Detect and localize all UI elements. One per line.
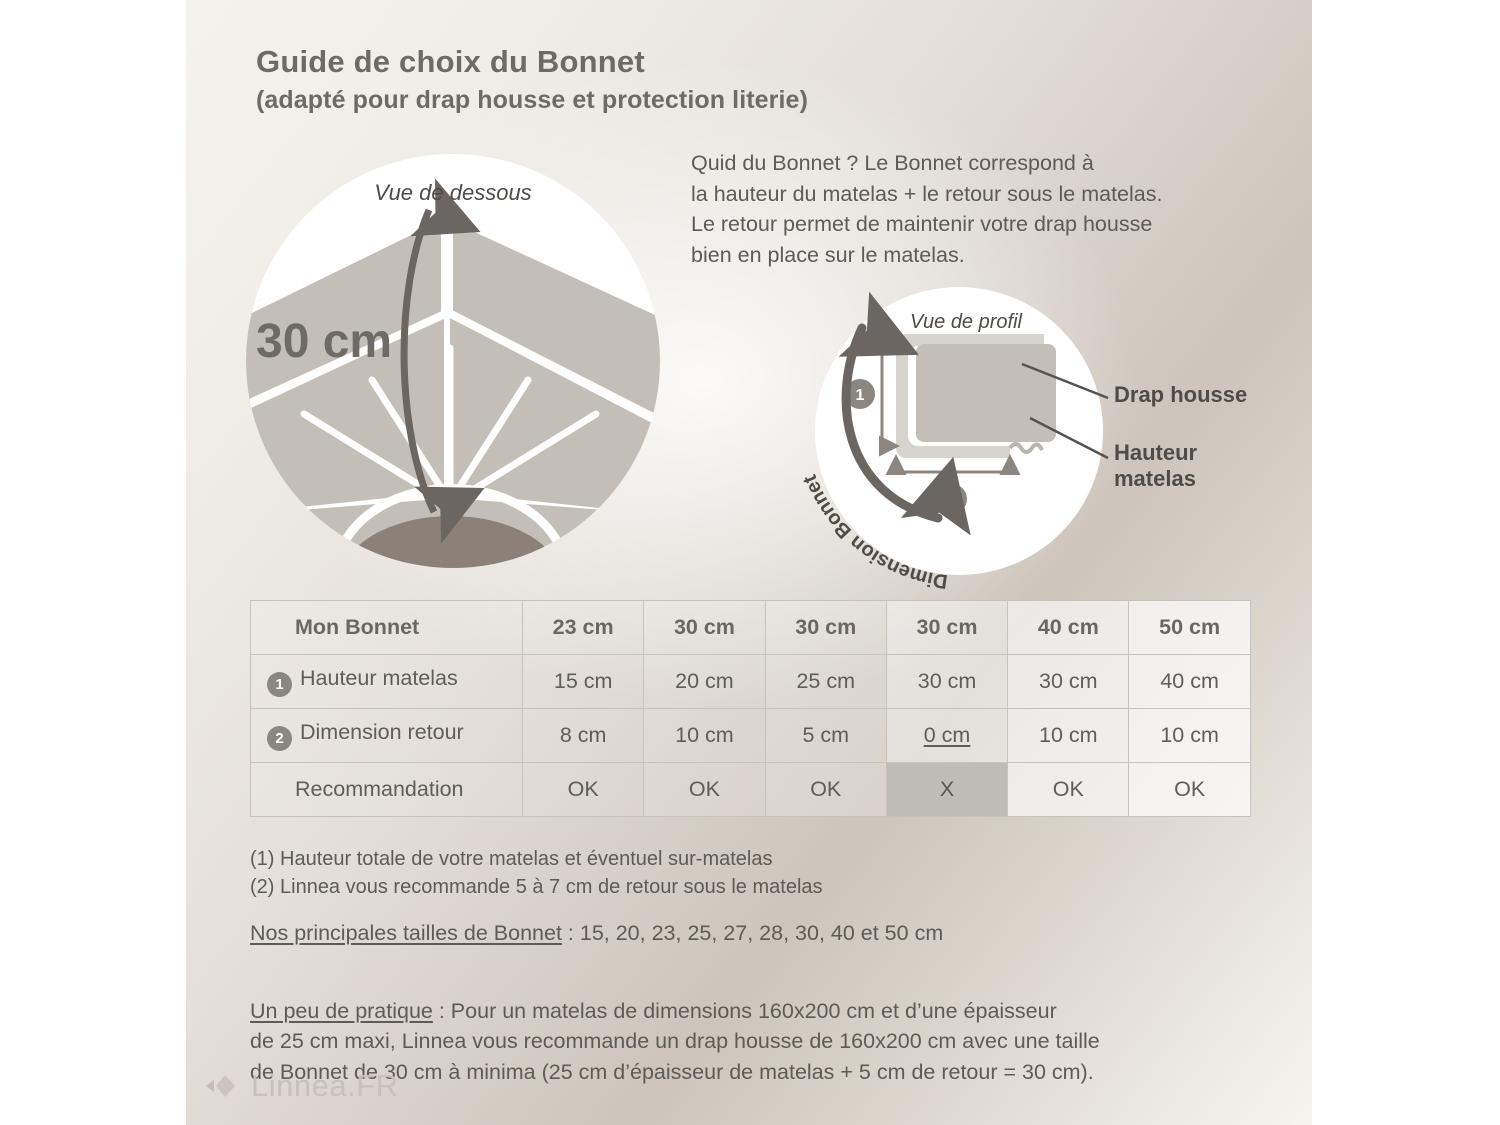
table-row-label-text: Recommandation bbox=[251, 763, 523, 817]
footnotes: (1) Hauteur totale de votre matelas et é… bbox=[250, 845, 1270, 902]
table-cell: 10 cm bbox=[1008, 709, 1129, 763]
table-cell: OK bbox=[765, 763, 886, 817]
table-row: 2Dimension retour 8 cm 10 cm 5 cm 0 cm 1… bbox=[251, 709, 1251, 763]
table-cell: OK bbox=[644, 763, 765, 817]
table-header-cell: 30 cm bbox=[886, 601, 1007, 655]
table-header-cell: 40 cm bbox=[1008, 601, 1129, 655]
bottom-view-caption: Vue de dessous bbox=[374, 180, 531, 205]
available-sizes-rest: : 15, 20, 23, 25, 27, 28, 30, 40 et 50 c… bbox=[562, 921, 943, 945]
table-row-label: 2Dimension retour bbox=[251, 709, 523, 763]
available-sizes-line: Nos principales tailles de Bonnet : 15, … bbox=[250, 918, 1270, 948]
table-cell: 10 cm bbox=[644, 709, 765, 763]
linnea-diamond-icon bbox=[202, 1071, 242, 1101]
table-cell: 8 cm bbox=[523, 709, 644, 763]
table-cell: 30 cm bbox=[1008, 655, 1129, 709]
leader-line-mattress bbox=[1030, 418, 1108, 458]
callout-drap-housse: Drap housse bbox=[1114, 382, 1247, 408]
infographic-page: Guide de choix du Bonnet (adapté pour dr… bbox=[0, 0, 1500, 1125]
infographic-panel: Guide de choix du Bonnet (adapté pour dr… bbox=[186, 0, 1312, 1125]
brand-wordmark: Linnea.FR bbox=[251, 1068, 399, 1104]
marker-badge-2: 2 bbox=[267, 726, 292, 751]
footnote-2: (2) Linnea vous recommande 5 à 7 cm de r… bbox=[250, 873, 1270, 901]
table-cell: OK bbox=[523, 763, 644, 817]
table-row: Recommandation OK OK OK X OK OK bbox=[251, 763, 1251, 817]
table-cell: 25 cm bbox=[765, 655, 886, 709]
practical-example: Un peu de pratique : Pour un matelas de … bbox=[250, 965, 1260, 1087]
table-cell: 20 cm bbox=[644, 655, 765, 709]
table-cell: 15 cm bbox=[523, 655, 644, 709]
table-cell: 40 cm bbox=[1129, 655, 1250, 709]
table-header-cell: 30 cm bbox=[644, 601, 765, 655]
table-cell: 30 cm bbox=[886, 655, 1007, 709]
footnote-1: (1) Hauteur totale de votre matelas et é… bbox=[250, 845, 1270, 873]
table-header-label: Mon Bonnet bbox=[251, 601, 523, 655]
brand-logo: Linnea.FR bbox=[202, 1068, 399, 1104]
bottom-view-diagram: Vue de dessous 30 cm bbox=[244, 152, 662, 570]
table-header-cell: 23 cm bbox=[523, 601, 644, 655]
table-cell-underlined: 0 cm bbox=[924, 723, 971, 747]
page-header: Guide de choix du Bonnet (adapté pour dr… bbox=[256, 44, 1256, 115]
arc-label-text: Dimension Bonnet bbox=[799, 471, 949, 592]
bonnet-size-table: Mon Bonnet 23 cm 30 cm 30 cm 30 cm 40 cm… bbox=[250, 600, 1251, 817]
intro-paragraph: Quid du Bonnet ? Le Bonnet correspond à … bbox=[691, 148, 1271, 270]
measure-label-30cm: 30 cm bbox=[256, 315, 392, 368]
page-subtitle: (adapté pour drap housse et protection l… bbox=[256, 85, 1256, 115]
table-cell: 10 cm bbox=[1129, 709, 1250, 763]
practical-example-lead: Un peu de pratique bbox=[250, 999, 433, 1023]
table-cell-not-recommended: X bbox=[886, 763, 1007, 817]
table-row-label: 1Hauteur matelas bbox=[251, 655, 523, 709]
table-cell: 0 cm bbox=[886, 709, 1007, 763]
marker-badge-1: 1 bbox=[267, 672, 292, 697]
table-row: 1Hauteur matelas 15 cm 20 cm 25 cm 30 cm… bbox=[251, 655, 1251, 709]
table-cell: 5 cm bbox=[765, 709, 886, 763]
page-title: Guide de choix du Bonnet bbox=[256, 44, 1256, 81]
table-row-label-text: Hauteur matelas bbox=[300, 666, 458, 690]
available-sizes-lead: Nos principales tailles de Bonnet bbox=[250, 921, 562, 945]
table-header-row: Mon Bonnet 23 cm 30 cm 30 cm 30 cm 40 cm… bbox=[251, 601, 1251, 655]
callout-hauteur-matelas: Hauteur matelas bbox=[1114, 440, 1197, 493]
svg-text:Dimension Bonnet: Dimension Bonnet bbox=[799, 471, 949, 592]
leader-line-sheet bbox=[1022, 364, 1108, 398]
table-header-cell: 50 cm bbox=[1129, 601, 1250, 655]
table-header-cell: 30 cm bbox=[765, 601, 886, 655]
table-cell: OK bbox=[1008, 763, 1129, 817]
table-row-label-text: Dimension retour bbox=[300, 720, 464, 744]
table-cell: OK bbox=[1129, 763, 1250, 817]
